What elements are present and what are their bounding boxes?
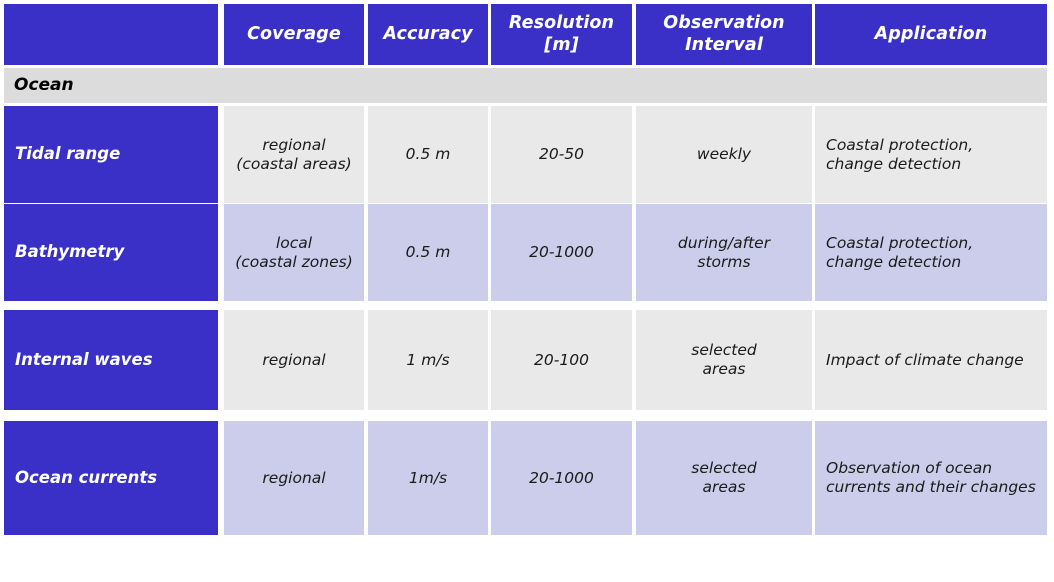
table-header-cell-resolution: Resolution [m] (491, 4, 632, 65)
table-cell-accuracy: 0.5 m (368, 204, 488, 301)
table-header-cell-accuracy: Accuracy (368, 4, 488, 65)
table-section-header-ocean: Ocean (4, 68, 1047, 103)
table-cell-observation-interval: selected areas (636, 310, 812, 410)
table-cell-application: Coastal protection, change detection (815, 204, 1047, 301)
table-cell-application: Impact of climate change (815, 310, 1047, 410)
table-header-cell-coverage: Coverage (224, 4, 364, 65)
table-cell-resolution: 20-1000 (491, 421, 632, 535)
table-cell-coverage: local (coastal zones) (224, 204, 364, 301)
table-header-cell-parameter (4, 4, 218, 65)
table-cell-resolution: 20-1000 (491, 204, 632, 301)
table-header-cell-application: Application (815, 4, 1047, 65)
table-cell-observation-interval: during/after storms (636, 204, 812, 301)
table-cell-observation-interval: weekly (636, 106, 812, 203)
table-cell-application: Coastal protection, change detection (815, 106, 1047, 203)
table-cell-coverage: regional (224, 421, 364, 535)
table-figure: Coverage Accuracy Resolution [m] Observa… (0, 0, 1054, 582)
table-cell-coverage: regional (224, 310, 364, 410)
table-row-label-tidal-range: Tidal range (4, 106, 218, 203)
table-row-label-ocean-currents: Ocean currents (4, 421, 218, 535)
table-cell-resolution: 20-100 (491, 310, 632, 410)
table-cell-accuracy: 0.5 m (368, 106, 488, 203)
table-cell-accuracy: 1m/s (368, 421, 488, 535)
table-cell-application: Observation of ocean currents and their … (815, 421, 1047, 535)
table-header-cell-observation-interval: Observation Interval (636, 4, 812, 65)
table-row-label-bathymetry: Bathymetry (4, 204, 218, 301)
table-row-label-internal-waves: Internal waves (4, 310, 218, 410)
table-cell-observation-interval: selected areas (636, 421, 812, 535)
table-cell-accuracy: 1 m/s (368, 310, 488, 410)
table-cell-coverage: regional (coastal areas) (224, 106, 364, 203)
table-cell-resolution: 20-50 (491, 106, 632, 203)
